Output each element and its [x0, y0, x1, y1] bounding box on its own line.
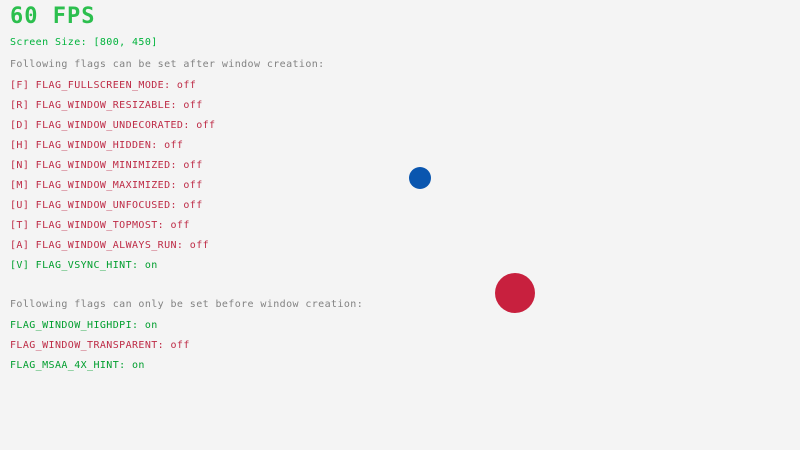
flag-row-window-hidden[interactable]: [H] FLAG_WINDOW_HIDDEN: off [10, 141, 183, 151]
flag-row-window-always-run[interactable]: [A] FLAG_WINDOW_ALWAYS_RUN: off [10, 241, 209, 251]
flag-row-msaa-4x-hint: FLAG_MSAA_4X_HINT: on [10, 361, 145, 371]
flag-row-window-undecorated[interactable]: [D] FLAG_WINDOW_UNDECORATED: off [10, 121, 215, 131]
blue-ball [409, 167, 431, 189]
flag-row-window-minimized[interactable]: [N] FLAG_WINDOW_MINIMIZED: off [10, 161, 203, 171]
flag-row-window-unfocused[interactable]: [U] FLAG_WINDOW_UNFOCUSED: off [10, 201, 203, 211]
flag-row-window-maximized[interactable]: [M] FLAG_WINDOW_MAXIMIZED: off [10, 181, 203, 191]
flag-row-window-topmost[interactable]: [T] FLAG_WINDOW_TOPMOST: off [10, 221, 190, 231]
creation-flags-header: Following flags can only be set before w… [10, 300, 363, 310]
flag-row-window-resizable[interactable]: [R] FLAG_WINDOW_RESIZABLE: off [10, 101, 203, 111]
screen-size-label: Screen Size: [800, 450] [10, 38, 158, 48]
flag-row-fullscreen-mode[interactable]: [F] FLAG_FULLSCREEN_MODE: off [10, 81, 196, 91]
flag-row-window-highdpi: FLAG_WINDOW_HIGHDPI: on [10, 321, 158, 331]
application-canvas[interactable]: 60 FPS Screen Size: [800, 450] Following… [0, 0, 800, 450]
runtime-flags-header: Following flags can be set after window … [10, 60, 325, 70]
flag-row-window-transparent: FLAG_WINDOW_TRANSPARENT: off [10, 341, 190, 351]
fps-counter: 60 FPS [10, 6, 95, 28]
red-ball [495, 273, 535, 313]
flag-row-vsync-hint[interactable]: [V] FLAG_VSYNC_HINT: on [10, 261, 158, 271]
